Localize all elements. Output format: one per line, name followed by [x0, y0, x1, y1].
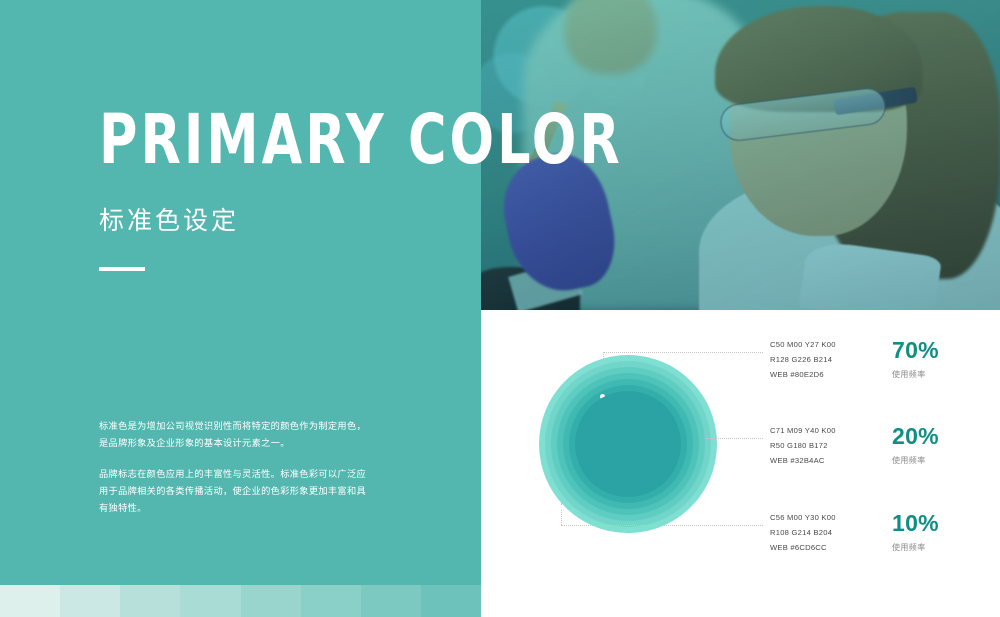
spec-usage-label-3: 使用频率 [892, 542, 939, 553]
spec-percent-2: 20% [892, 425, 939, 448]
spec-codes-1: C50 M00 Y27 K00 R128 G226 B214 WEB #80E2… [770, 338, 874, 382]
bottom-swatch-strip [0, 585, 481, 617]
slide-canvas: PRIMARY COLOR 标准色设定 标准色是为增加公司视觉识别性而将特定的颜… [0, 0, 1000, 617]
spec-cmyk-2: C71 M09 Y40 K00 [770, 424, 874, 439]
page-title: PRIMARY COLOR [99, 106, 623, 174]
spec-usage-label-1: 使用频率 [892, 369, 939, 380]
spec-usage-3: 10% 使用频率 [892, 511, 939, 553]
spec-codes-3: C56 M00 Y30 K00 R108 G214 B204 WEB #6CD6… [770, 511, 874, 555]
swatch-8 [421, 585, 481, 617]
spec-percent-3: 10% [892, 512, 939, 535]
swatch-1 [0, 585, 60, 617]
title-block: PRIMARY COLOR 标准色设定 [99, 106, 708, 271]
swatch-5 [241, 585, 301, 617]
spec-usage-1: 70% 使用频率 [892, 338, 939, 380]
body-copy: 标准色是为增加公司视觉识别性而将特定的颜色作为制定用色，是品牌形象及企业形象的基… [99, 418, 367, 517]
spec-cmyk-1: C50 M00 Y27 K00 [770, 338, 874, 353]
title-underline-rule [99, 267, 145, 271]
leader-line-bottom [561, 525, 763, 526]
spec-usage-label-2: 使用频率 [892, 455, 939, 466]
color-spec-row-1: C50 M00 Y27 K00 R128 G226 B214 WEB #80E2… [770, 338, 939, 382]
spec-web-2: WEB #32B4AC [770, 454, 874, 469]
spec-usage-2: 20% 使用频率 [892, 424, 939, 466]
spec-web-3: WEB #6CD6CC [770, 541, 874, 556]
spec-web-1: WEB #80E2D6 [770, 368, 874, 383]
body-paragraph-2: 品牌标志在颜色应用上的丰富性与灵活性。标准色彩可以广泛应用于品牌相关的各类传播活… [99, 466, 367, 517]
swatch-7 [361, 585, 421, 617]
spec-rgb-2: R50 G180 B172 [770, 439, 874, 454]
circle-ring-7 [575, 391, 681, 497]
swatch-2 [60, 585, 120, 617]
leader-stub-top [603, 352, 604, 363]
body-paragraph-1: 标准色是为增加公司视觉识别性而将特定的颜色作为制定用色，是品牌形象及企业形象的基… [99, 418, 367, 452]
color-spec-row-2: C71 M09 Y40 K00 R50 G180 B172 WEB #32B4A… [770, 424, 939, 468]
spec-rgb-1: R128 G226 B214 [770, 353, 874, 368]
color-circle-diagram: TIFFANY BLUE 蒂凡尼色 [539, 355, 717, 533]
leader-line-top [603, 352, 763, 353]
color-spec-panel: TIFFANY BLUE 蒂凡尼色 C50 M00 Y27 K00 R128 G… [481, 310, 1000, 617]
spec-codes-2: C71 M09 Y40 K00 R50 G180 B172 WEB #32B4A… [770, 424, 874, 468]
swatch-4 [180, 585, 240, 617]
spec-rgb-3: R108 G214 B204 [770, 526, 874, 541]
color-spec-row-3: C56 M00 Y30 K00 R108 G214 B204 WEB #6CD6… [770, 511, 939, 555]
page-subtitle: 标准色设定 [99, 201, 708, 237]
spec-percent-1: 70% [892, 339, 939, 362]
swatch-6 [301, 585, 361, 617]
ring-dot-bottom [558, 505, 563, 510]
spec-cmyk-3: C56 M00 Y30 K00 [770, 511, 874, 526]
left-teal-panel [0, 0, 481, 617]
swatch-3 [120, 585, 180, 617]
